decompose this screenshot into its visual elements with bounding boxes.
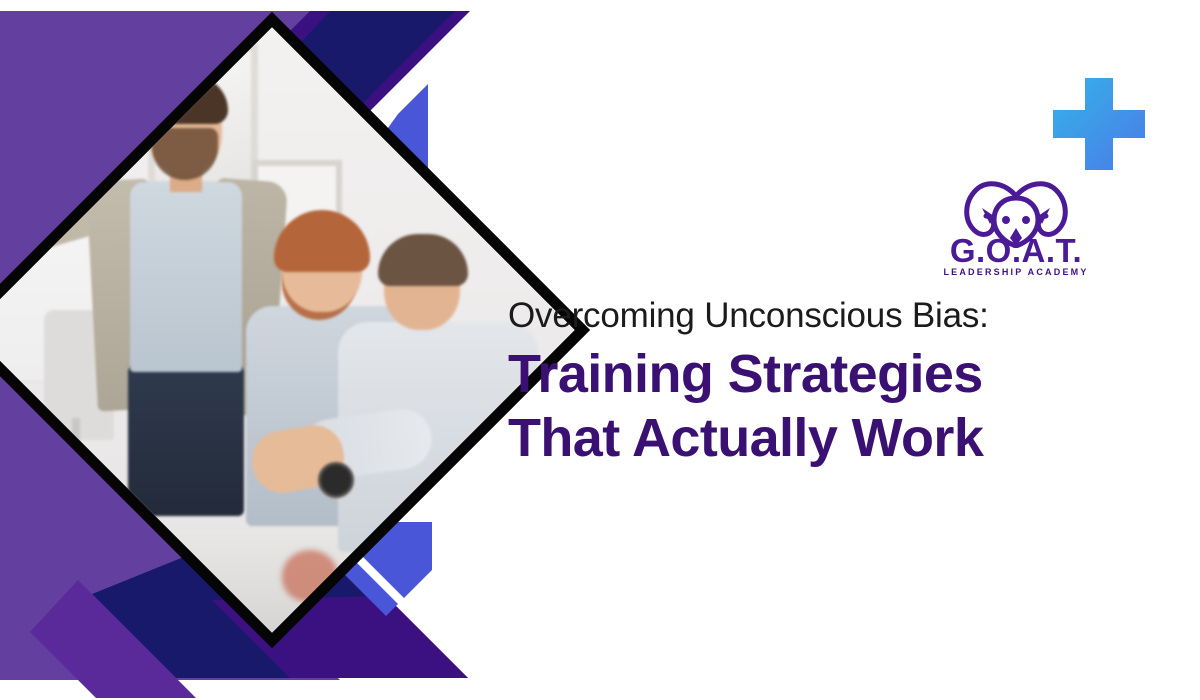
headline-block: Overcoming Unconscious Bias: Training St… xyxy=(508,296,1108,471)
photo-chair-leg xyxy=(72,418,80,496)
headline-line-2: That Actually Work xyxy=(508,407,1108,471)
photo-colleague2-watch xyxy=(318,462,354,498)
goat-logo: G.O.A.T. LEADERSHIP ACADEMY xyxy=(930,176,1102,288)
presentation-photo xyxy=(0,27,575,632)
photo-diamond xyxy=(0,12,590,648)
diamond-photo-clip xyxy=(0,27,575,632)
logo-tagline: LEADERSHIP ACADEMY xyxy=(930,268,1102,277)
photo-presenter-shirt xyxy=(130,182,242,372)
banner-canvas: G.O.A.T. LEADERSHIP ACADEMY Overcoming U… xyxy=(0,0,1200,700)
plus-icon xyxy=(1053,78,1145,170)
violet-band-bottom-2 xyxy=(30,580,196,698)
photo-presenter-hand xyxy=(0,192,7,230)
logo-wordmark: G.O.A.T. xyxy=(930,234,1102,267)
white-hairline-bottom-1 xyxy=(352,552,494,694)
headline-line-1: Training Strategies xyxy=(508,343,1108,407)
photo-presenter-trousers xyxy=(128,366,244,516)
headline-kicker: Overcoming Unconscious Bias: xyxy=(508,296,1108,335)
